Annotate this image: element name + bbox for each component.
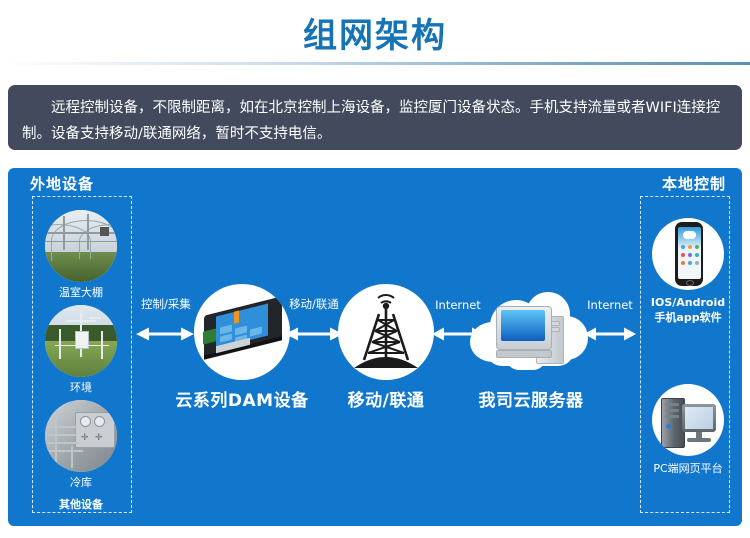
network-diagram-panel: 外地设备 本地控制 温室大棚 bbox=[8, 168, 742, 526]
node-label-cell-tower: 移动/联通 bbox=[326, 386, 446, 411]
page-header: 组网架构 bbox=[0, 0, 750, 72]
remote-device-icon-environment bbox=[45, 305, 117, 377]
local-group-title: 本地控制 bbox=[662, 173, 726, 194]
local-client-icon-pc bbox=[652, 384, 724, 456]
description-box: 远程控制设备，不限制距离，如在北京控制上海设备，监控厦门设备状态。手机支持流量或… bbox=[8, 85, 742, 150]
header-divider bbox=[0, 62, 750, 65]
local-client-label-pc-line1: PC端网页平台 bbox=[638, 462, 738, 476]
remote-device-icon-greenhouse bbox=[45, 210, 117, 282]
remote-devices-footer-label: 其他设备 bbox=[35, 498, 127, 512]
remote-group-title: 外地设备 bbox=[30, 173, 94, 194]
remote-device-label-cold-storage: 冷库 bbox=[35, 476, 127, 490]
smartphone-icon bbox=[652, 218, 724, 290]
node-icon-cloud-server bbox=[470, 290, 588, 376]
cold-storage-photo: ✛ ✛ bbox=[45, 400, 117, 472]
local-client-icon-phone bbox=[652, 218, 724, 290]
page-title: 组网架构 bbox=[0, 8, 750, 57]
environment-sensor-photo bbox=[45, 305, 117, 377]
remote-device-label-greenhouse: 温室大棚 bbox=[35, 286, 127, 300]
greenhouse-photo bbox=[45, 210, 117, 282]
desktop-pc-icon bbox=[652, 384, 724, 456]
double-arrow-icon-2 bbox=[285, 326, 343, 342]
double-arrow-icon-4 bbox=[584, 326, 636, 342]
node-label-cloud-server: 我司云服务器 bbox=[466, 386, 596, 411]
local-client-label-phone-line1: IOS/Android bbox=[638, 296, 738, 310]
local-client-label-phone-line2: 手机app软件 bbox=[638, 311, 738, 325]
double-arrow-icon-1 bbox=[136, 326, 194, 342]
link-label-internet-2: Internet bbox=[572, 298, 648, 312]
node-label-dam-device: 云系列DAM设备 bbox=[174, 386, 310, 411]
page-root: 组网架构 远程控制设备，不限制距离，如在北京控制上海设备，监控厦门设备状态。手机… bbox=[0, 0, 750, 538]
remote-device-label-environment: 环境 bbox=[35, 381, 127, 395]
description-text: 远程控制设备，不限制距离，如在北京控制上海设备，监控厦门设备状态。手机支持流量或… bbox=[22, 95, 728, 147]
remote-device-icon-cold-storage: ✛ ✛ bbox=[45, 400, 117, 472]
